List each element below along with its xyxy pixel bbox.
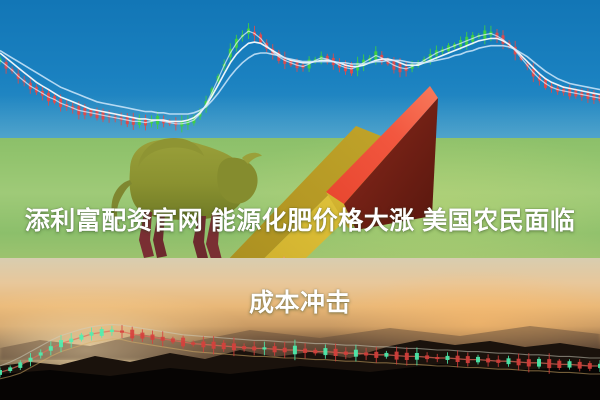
headline-line-1: 添利富配资官网 能源化肥价格大涨 美国农民面临 [0, 201, 600, 242]
headline-line-2: 成本冲击 [0, 283, 600, 324]
page-title: 添利富配资官网 能源化肥价格大涨 美国农民面临 成本冲击 [0, 160, 600, 365]
banner-image: 添利富配资官网 能源化肥价格大涨 美国农民面临 成本冲击 [0, 0, 600, 400]
